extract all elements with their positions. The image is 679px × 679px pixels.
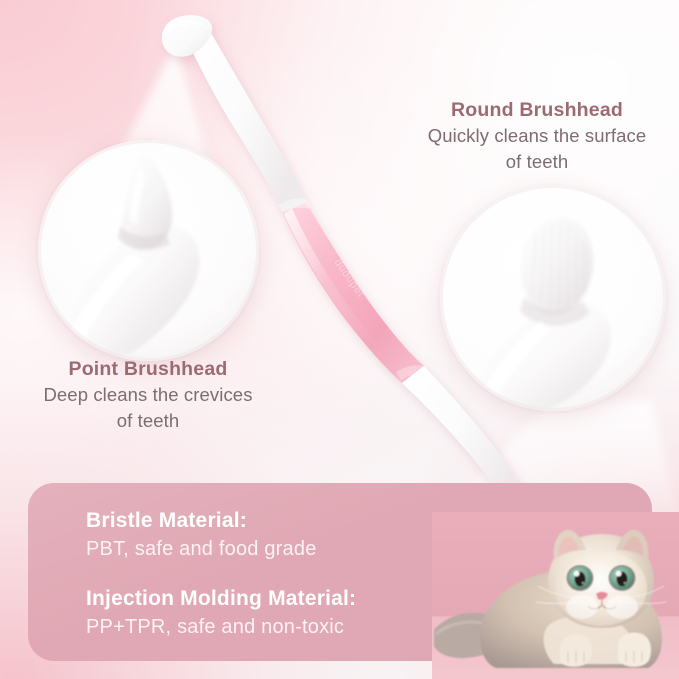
material-bristle-value: PBT, safe and food grade [86,535,317,564]
callout-round-body-line1: Quickly cleans the surface [395,123,679,149]
callout-point-body: Deep cleans the crevices of teeth [6,382,290,433]
callout-point-body-line1: Deep cleans the crevices [6,382,290,408]
callout-point-body-line2: of teeth [6,408,290,434]
callout-point-heading: Point Brushhead [6,357,290,382]
material-injection-molding-value: PP+TPR, safe and non-toxic [86,613,356,642]
callout-round-heading: Round Brushhead [395,98,679,123]
callout-round-body: Quickly cleans the surface of teeth [395,123,679,174]
cat-photo [432,512,679,679]
material-bristle-label: Bristle Material: [86,506,317,535]
magnifier-round-brushhead [440,185,666,411]
callout-round-body-line2: of teeth [395,149,679,175]
callout-point-brushhead: Point Brushhead Deep cleans the crevices… [6,357,290,433]
point-brushhead-closeup [38,140,259,361]
callout-round-brushhead: Round Brushhead Quickly cleans the surfa… [395,98,679,174]
material-injection-molding-label: Injection Molding Material: [86,584,356,613]
round-brushhead-closeup [440,185,666,411]
infographic-canvas: dudupet [0,0,679,679]
material-injection-molding: Injection Molding Material: PP+TPR, safe… [86,584,356,642]
material-bristle: Bristle Material: PBT, safe and food gra… [86,506,317,564]
magnifier-point-brushhead [38,140,259,361]
